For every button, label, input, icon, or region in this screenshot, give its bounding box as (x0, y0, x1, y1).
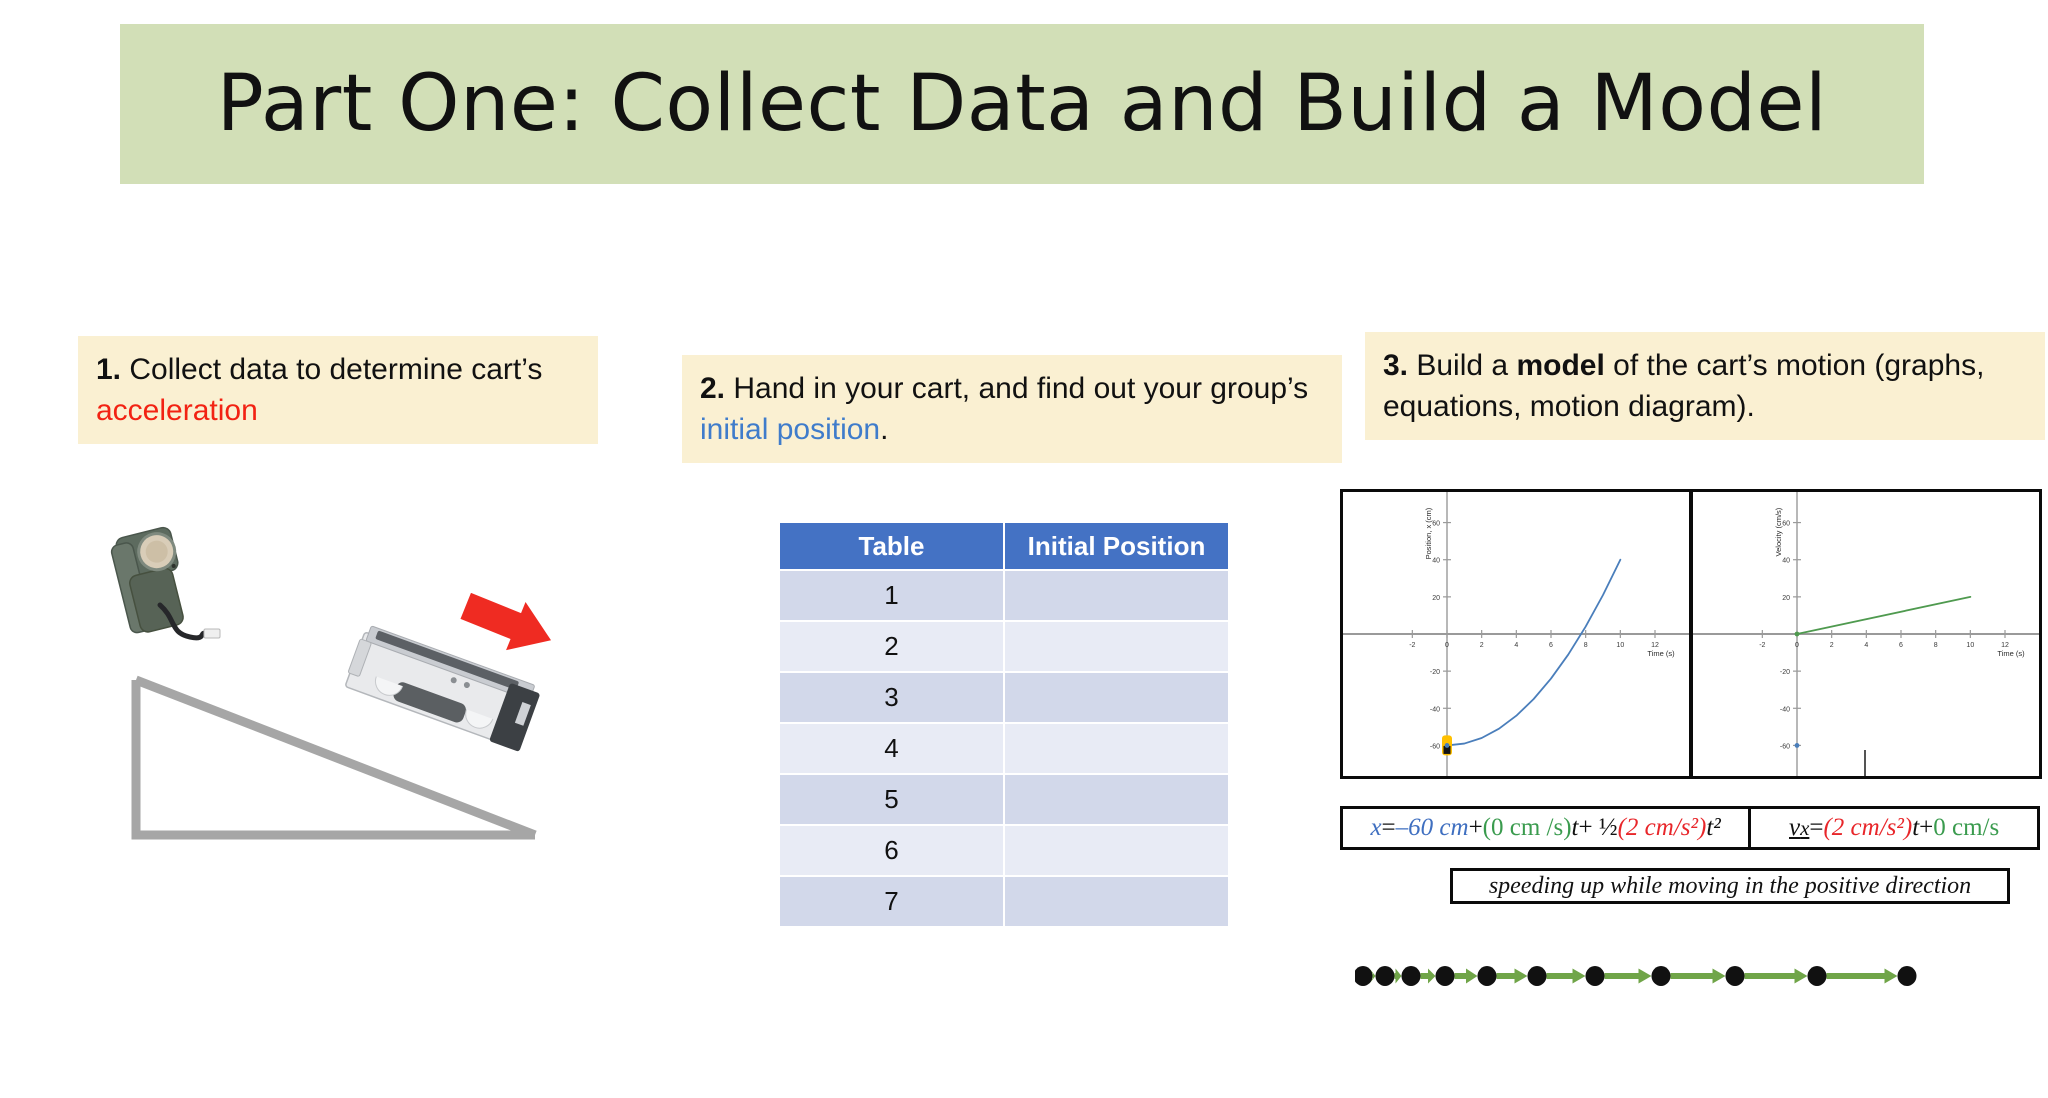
step-3-number: 3. (1383, 349, 1408, 382)
x-tick-label: 2 (1830, 642, 1834, 649)
y-tick-label: 20 (1782, 595, 1790, 602)
step-3-callout: 3. Build a model of the cart’s motion (g… (1365, 332, 2045, 440)
cell-initial-position[interactable] (1004, 774, 1229, 825)
step-2-number: 2. (700, 372, 725, 405)
eq-x-symbol: x (1370, 814, 1381, 842)
motion-arrow (1395, 969, 1402, 984)
eq-v-equals: = (1809, 814, 1823, 842)
step-3-bold-word: model (1516, 349, 1604, 382)
velocity-graph: 604020-20-40-60-2024681012Time (s)Veloci… (1690, 489, 2042, 779)
y-tick-label: -20 (1780, 669, 1790, 676)
motion-dot (1436, 966, 1455, 986)
eq-v-t: t (1912, 814, 1919, 842)
cell-initial-position[interactable] (1004, 570, 1229, 621)
x-tick-label: 8 (1584, 642, 1588, 649)
motion-arrow (1745, 969, 1808, 984)
table-row[interactable]: 4 (779, 723, 1229, 774)
y-tick-label: 40 (1432, 558, 1440, 565)
motion-arrow (1497, 969, 1528, 984)
table-row[interactable]: 2 (779, 621, 1229, 672)
velocity-equation: vx = (2 cm/s²) t + 0 cm/s (1751, 809, 2037, 847)
y-tick-label: 60 (1432, 521, 1440, 528)
direction-arrow-icon (458, 593, 558, 655)
x-tick-label: 6 (1899, 642, 1903, 649)
motion-sensor-icon (98, 521, 228, 656)
position-equation: x = –60 cm + (0 cm /s) t + ½ (2 cm/s²) t… (1343, 809, 1751, 847)
y-tick-label: -40 (1430, 706, 1440, 713)
y-tick-label: -60 (1430, 743, 1440, 750)
table-row[interactable]: 3 (779, 672, 1229, 723)
motion-arrow (1605, 969, 1652, 984)
cell-table-number: 3 (779, 672, 1004, 723)
motion-dot (1898, 966, 1917, 986)
ramp-figure (80, 505, 640, 885)
step-1-callout: 1. Collect data to determine cart’s acce… (78, 336, 598, 444)
data-series-line (1797, 597, 1970, 634)
step-2-highlight: initial position (700, 413, 880, 446)
motion-dot (1652, 966, 1671, 986)
x-tick-label: 0 (1795, 642, 1799, 649)
motion-dot (1808, 966, 1827, 986)
motion-dot (1478, 966, 1497, 986)
cell-table-number: 1 (779, 570, 1004, 621)
step-2-text-end: . (880, 413, 888, 446)
x-axis-label: Time (s) (1647, 649, 1675, 658)
x-tick-label: 10 (1616, 642, 1624, 649)
x-tick-label: 0 (1445, 642, 1449, 649)
motion-arrow (1455, 969, 1478, 984)
y-tick-label: -60 (1780, 743, 1790, 750)
caption-text: speeding up while moving in the positive… (1489, 873, 1971, 900)
x-tick-label: 4 (1864, 642, 1868, 649)
x-tick-label: 10 (1966, 642, 1974, 649)
eq-vx-subscript: x (1800, 816, 1809, 841)
eq-initial-velocity: (0 cm /s) (1483, 814, 1572, 842)
x-tick-label: 12 (1651, 642, 1659, 649)
y-tick-label: 60 (1782, 521, 1790, 528)
title-banner: Part One: Collect Data and Build a Model (120, 24, 1924, 184)
eq-initial-position: –60 cm (1396, 814, 1469, 842)
eq-vx-symbol: v (1789, 814, 1800, 842)
table-row[interactable]: 6 (779, 825, 1229, 876)
eq-equals: = (1382, 814, 1396, 842)
motion-arrow (1547, 969, 1586, 984)
x-tick-label: -2 (1409, 642, 1415, 649)
motion-description-caption: speeding up while moving in the positive… (1450, 868, 2010, 904)
cell-initial-position[interactable] (1004, 621, 1229, 672)
motion-arrow (1421, 969, 1436, 984)
equations-row: x = –60 cm + (0 cm /s) t + ½ (2 cm/s²) t… (1340, 806, 2040, 850)
eq-v-initial: 0 cm/s (1933, 814, 1999, 842)
position-graph: 604020-20-40-60-2024681012Time (s)Positi… (1340, 489, 1692, 779)
x-tick-label: 4 (1514, 642, 1518, 649)
column-header-table: Table (779, 522, 1004, 570)
x-tick-label: 6 (1549, 642, 1553, 649)
eq-plus-half: + ½ (1579, 814, 1618, 842)
eq-t-1: t (1572, 814, 1579, 842)
step-2-callout: 2. Hand in your cart, and find out your … (682, 355, 1342, 463)
eq-t-squared: t² (1706, 814, 1720, 842)
y-tick-label: -40 (1780, 706, 1790, 713)
velocity-vs-time-chart: 604020-20-40-60-2024681012Time (s)Veloci… (1693, 492, 2039, 776)
chart-marker (1795, 743, 1800, 748)
y-tick-label: -20 (1430, 669, 1440, 676)
step-2-text: Hand in your cart, and find out your gro… (725, 372, 1308, 405)
cart-start-point (1445, 743, 1450, 748)
motion-dot (1726, 966, 1745, 986)
y-axis-label: Velocity (cm/s) (1774, 507, 1783, 556)
x-tick-label: 12 (2001, 642, 2009, 649)
eq-v-acceleration: (2 cm/s²) (1823, 814, 1912, 842)
y-axis-label: Position, x (cm) (1424, 507, 1433, 559)
step-1-number: 1. (96, 353, 121, 386)
step-1-text: Collect data to determine cart’s (121, 353, 542, 386)
motion-dot (1402, 966, 1421, 986)
chart-marker (1795, 632, 1800, 637)
eq-plus-1: + (1469, 814, 1483, 842)
y-tick-label: 40 (1782, 558, 1790, 565)
position-vs-time-chart: 604020-20-40-60-2024681012Time (s)Positi… (1343, 492, 1689, 776)
cell-initial-position[interactable] (1004, 672, 1229, 723)
cell-initial-position[interactable] (1004, 825, 1229, 876)
column-header-initial-position: Initial Position (1004, 522, 1229, 570)
y-tick-label: 20 (1432, 595, 1440, 602)
cell-initial-position[interactable] (1004, 876, 1229, 927)
x-tick-label: -2 (1759, 642, 1765, 649)
motion-arrow (1827, 969, 1898, 984)
slide-canvas: Part One: Collect Data and Build a Model… (0, 0, 2048, 1098)
cell-table-number: 6 (779, 825, 1004, 876)
x-tick-label: 2 (1480, 642, 1484, 649)
cable-plug (204, 629, 220, 638)
motion-diagram (1355, 955, 2015, 1003)
cell-initial-position[interactable] (1004, 723, 1229, 774)
motion-dot (1528, 966, 1547, 986)
motion-arrow (1671, 969, 1726, 984)
table-row[interactable]: 7 (779, 876, 1229, 927)
table-body: 1 2 3 4 5 6 7 (779, 570, 1229, 927)
initial-position-table: Table Initial Position 1 2 3 4 5 (778, 521, 1230, 928)
model-graphs-panel: 604020-20-40-60-2024681012Time (s)Positi… (1340, 489, 2040, 779)
page-title: Part One: Collect Data and Build a Model (217, 59, 1827, 149)
step-1-highlight: acceleration (96, 394, 258, 427)
eq-v-plus: + (1919, 814, 1933, 842)
x-tick-label: 8 (1934, 642, 1938, 649)
cell-table-number: 4 (779, 723, 1004, 774)
motion-dot (1376, 966, 1395, 986)
data-series-line (1447, 560, 1620, 746)
table-header-row: Table Initial Position (779, 522, 1229, 570)
step-3-text: Build a (1408, 349, 1516, 382)
eq-acceleration: (2 cm/s²) (1618, 814, 1707, 842)
cell-table-number: 5 (779, 774, 1004, 825)
table-row[interactable]: 5 (779, 774, 1229, 825)
cell-table-number: 2 (779, 621, 1004, 672)
x-axis-label: Time (s) (1997, 649, 2025, 658)
table-row[interactable]: 1 (779, 570, 1229, 621)
cell-table-number: 7 (779, 876, 1004, 927)
motion-dot (1586, 966, 1605, 986)
